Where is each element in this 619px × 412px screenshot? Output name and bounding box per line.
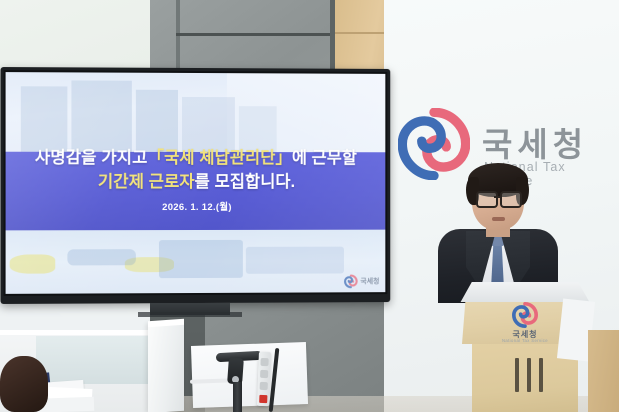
taegeuk-icon-podium: [512, 302, 538, 328]
slide-photo-building: [21, 87, 67, 152]
power-switch[interactable]: [259, 395, 267, 403]
wood-grain-line: [335, 32, 384, 34]
power-outlet[interactable]: [260, 382, 268, 390]
taegeuk-icon-small: [344, 274, 358, 288]
slide-line1-prefix: 사명감을 가지고: [35, 149, 148, 167]
slide-photo-building: [246, 246, 344, 274]
microphone-stand-pole: [233, 382, 242, 412]
tv-screen[interactable]: 국세청 사명감을 가지고「국세 체납관리단」에 근무할 기간제 근로자를 모집합…: [6, 72, 386, 294]
tv-base: [138, 312, 242, 317]
slide-photo-band-top: [6, 72, 386, 152]
slide-headline-line1: 사명감을 가지고「국세 체납관리단」에 근무할: [6, 147, 386, 168]
slide-photo-building: [136, 90, 178, 152]
podium-vent-slot: [539, 358, 543, 392]
slide-footer-logo-label: 국세청: [360, 276, 379, 286]
slide-date: 2026. 1. 12.(월): [6, 199, 386, 213]
power-strip[interactable]: [257, 352, 271, 406]
podium-vent-slot: [527, 358, 531, 392]
slide-line1-highlight: 「국세 체납관리단」: [147, 149, 291, 167]
press-briefing-photo: 국세청 National Tax Service: [0, 0, 619, 412]
speaker-glasses-bridge: [494, 196, 501, 198]
slide-headline-line2: 기간제 근로자를 모집합니다.: [6, 171, 386, 192]
slide-photo-building: [71, 80, 132, 152]
attendee-head: [0, 356, 48, 412]
podium-vent-slot: [515, 358, 519, 392]
slide-line1-suffix: 에 근무할: [292, 149, 357, 167]
slide-photo-building: [159, 240, 243, 278]
slide-text-block: 사명감을 가지고「국세 체납관리단」에 근무할 기간제 근로자를 모집합니다. …: [6, 147, 386, 213]
power-outlet[interactable]: [260, 358, 268, 366]
speaker-glasses-lens-right: [500, 191, 522, 208]
wood-panel-right: [588, 330, 619, 412]
desk-partition: [148, 321, 184, 412]
speaker-mouth: [492, 217, 505, 221]
slide-photo-building: [239, 106, 277, 152]
slide-footer-logo: 국세청: [344, 274, 380, 288]
tv-bezel: 국세청 사명감을 가지고「국세 체납관리단」에 근무할 기간제 근로자를 모집합…: [4, 70, 388, 296]
backdrop-agency-name-kr: 국세청: [482, 118, 588, 166]
speaker-glasses-lens-left: [476, 191, 498, 208]
slide-line2-suffix: 를 모집합니다.: [195, 173, 296, 191]
desk-edge: [0, 330, 160, 335]
presentation-television[interactable]: 국세청 사명감을 가지고「국세 체납관리단」에 근무할 기간제 근로자를 모집합…: [1, 67, 391, 304]
slide-line2-highlight: 기간제 근로자: [98, 173, 195, 191]
desk-glass-panel: [36, 336, 156, 384]
slide-photo-building: [182, 97, 235, 153]
slide-photo-foliage: [9, 255, 55, 274]
slide-photo-sign: [67, 249, 136, 266]
slide-photo-band-bottom: 국세청: [6, 230, 386, 294]
wall-seam-horizontal-upper: [176, 33, 335, 36]
power-outlet[interactable]: [260, 370, 268, 378]
